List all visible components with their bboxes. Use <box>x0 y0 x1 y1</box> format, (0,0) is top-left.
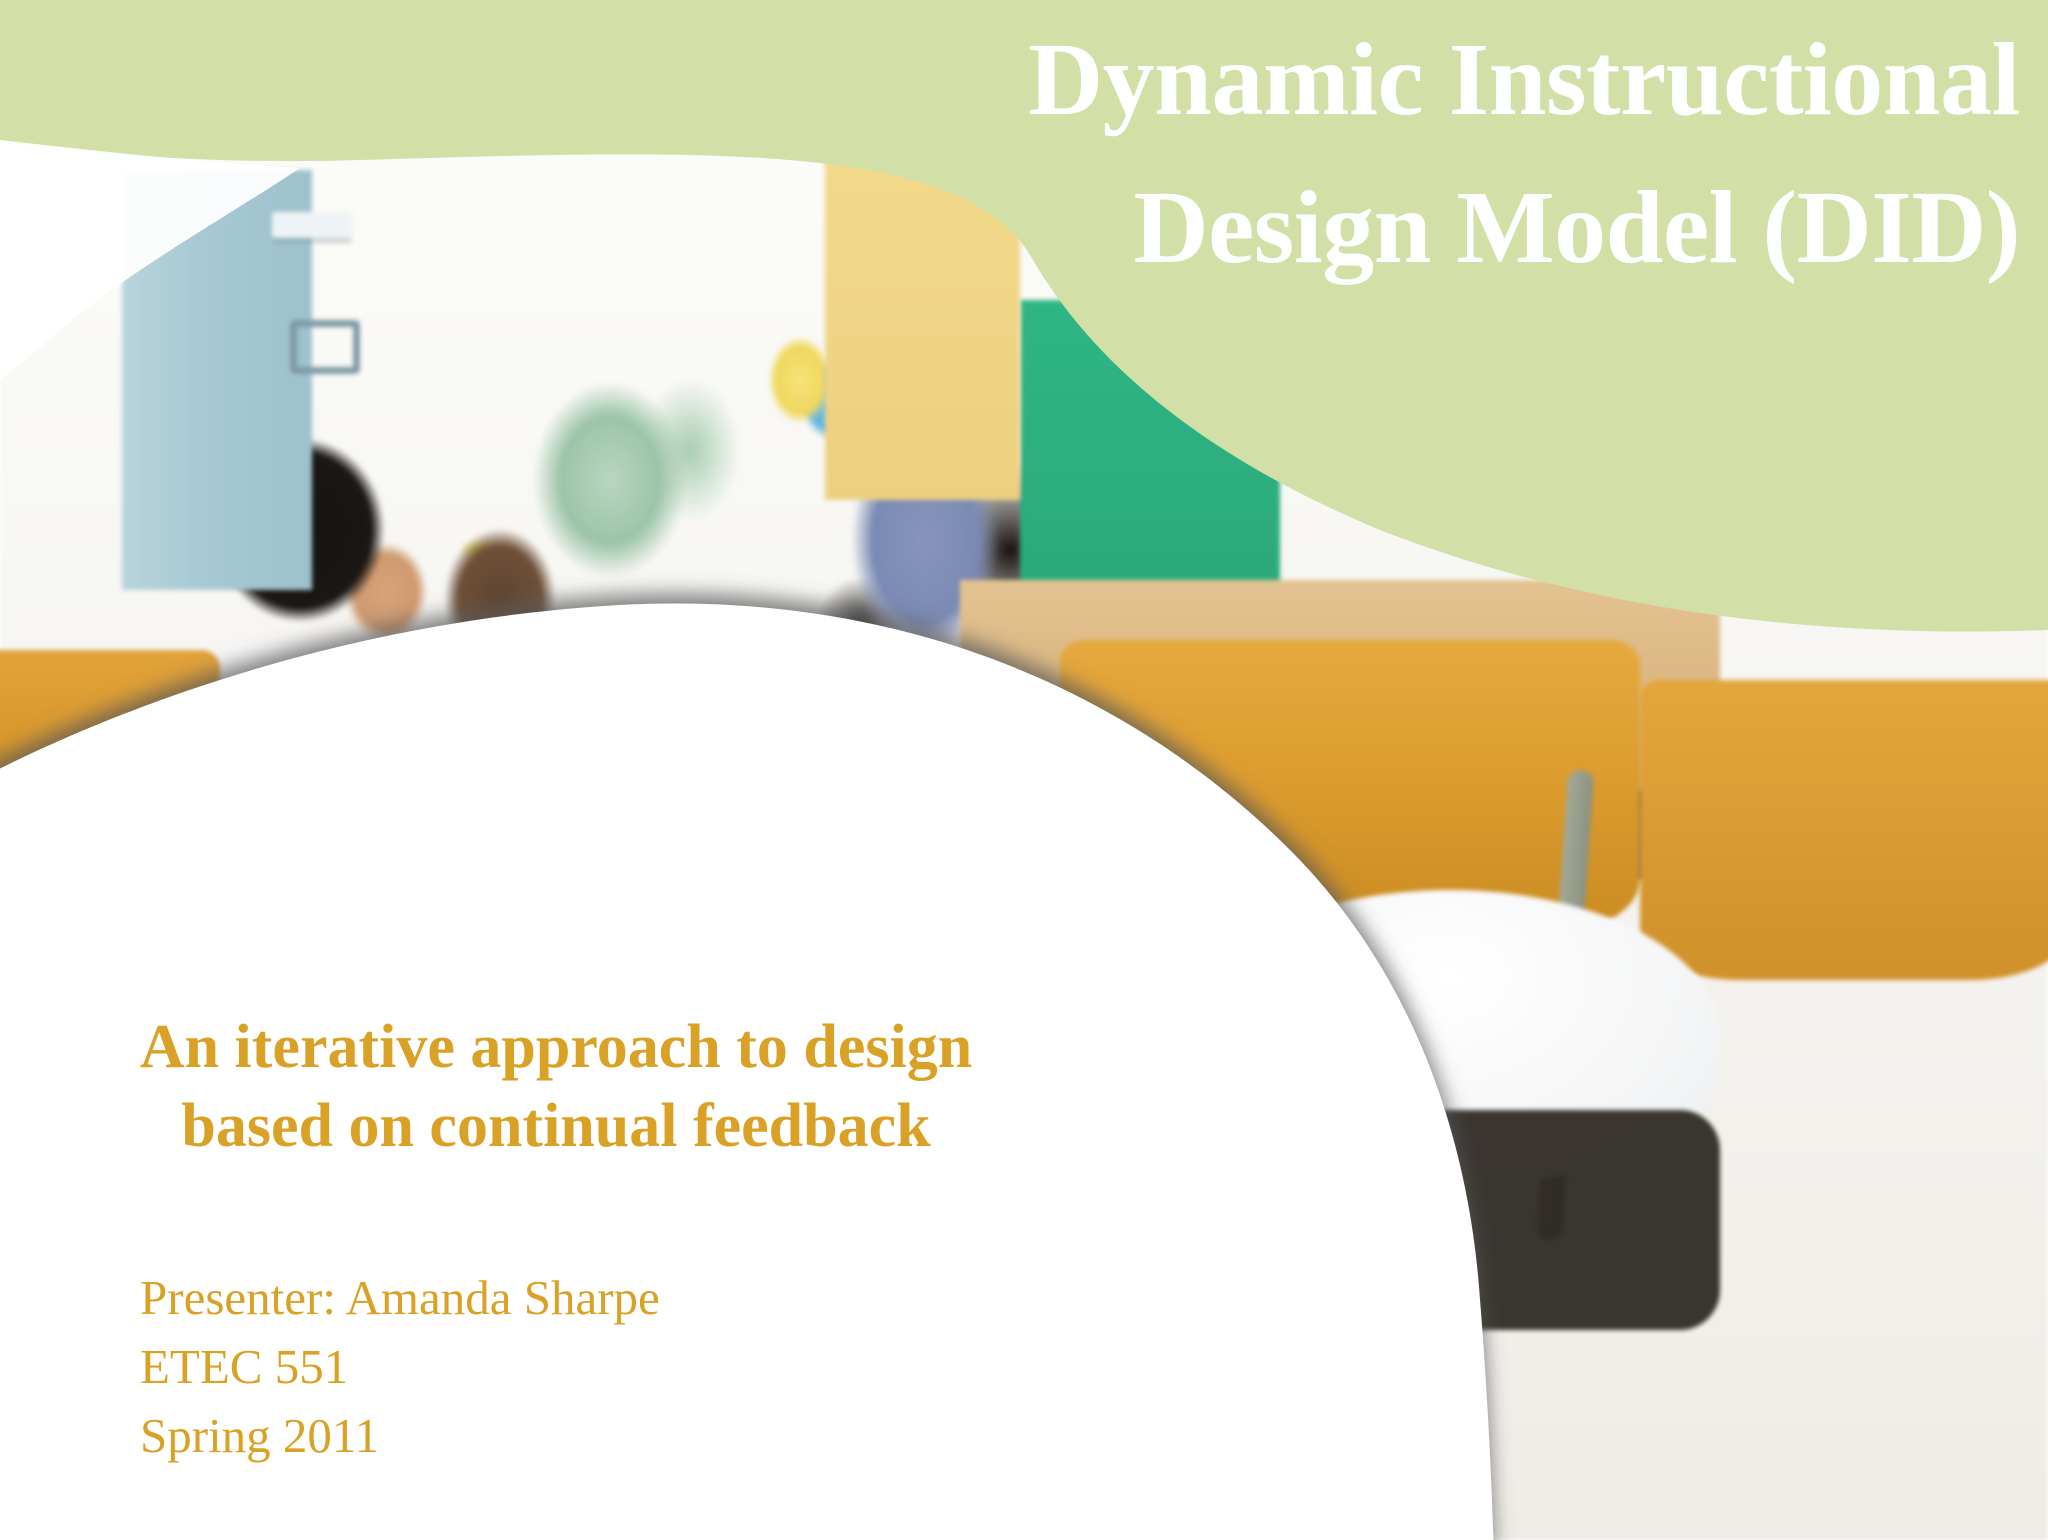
term-label: Spring 2011 <box>140 1401 660 1470</box>
presentation-slide: Dynamic Instructional Design Model (DID)… <box>0 0 2048 1540</box>
page-title: Dynamic Instructional Design Model (DID) <box>360 6 2020 301</box>
presenter-info-block: Presenter: Amanda Sharpe ETEC 551 Spring… <box>140 1263 660 1470</box>
course-code: ETEC 551 <box>140 1332 660 1401</box>
slide-subtitle: An iterative approach to design based on… <box>96 1008 1016 1167</box>
white-corner-wedge <box>0 140 300 380</box>
presenter-name: Presenter: Amanda Sharpe <box>140 1263 660 1332</box>
